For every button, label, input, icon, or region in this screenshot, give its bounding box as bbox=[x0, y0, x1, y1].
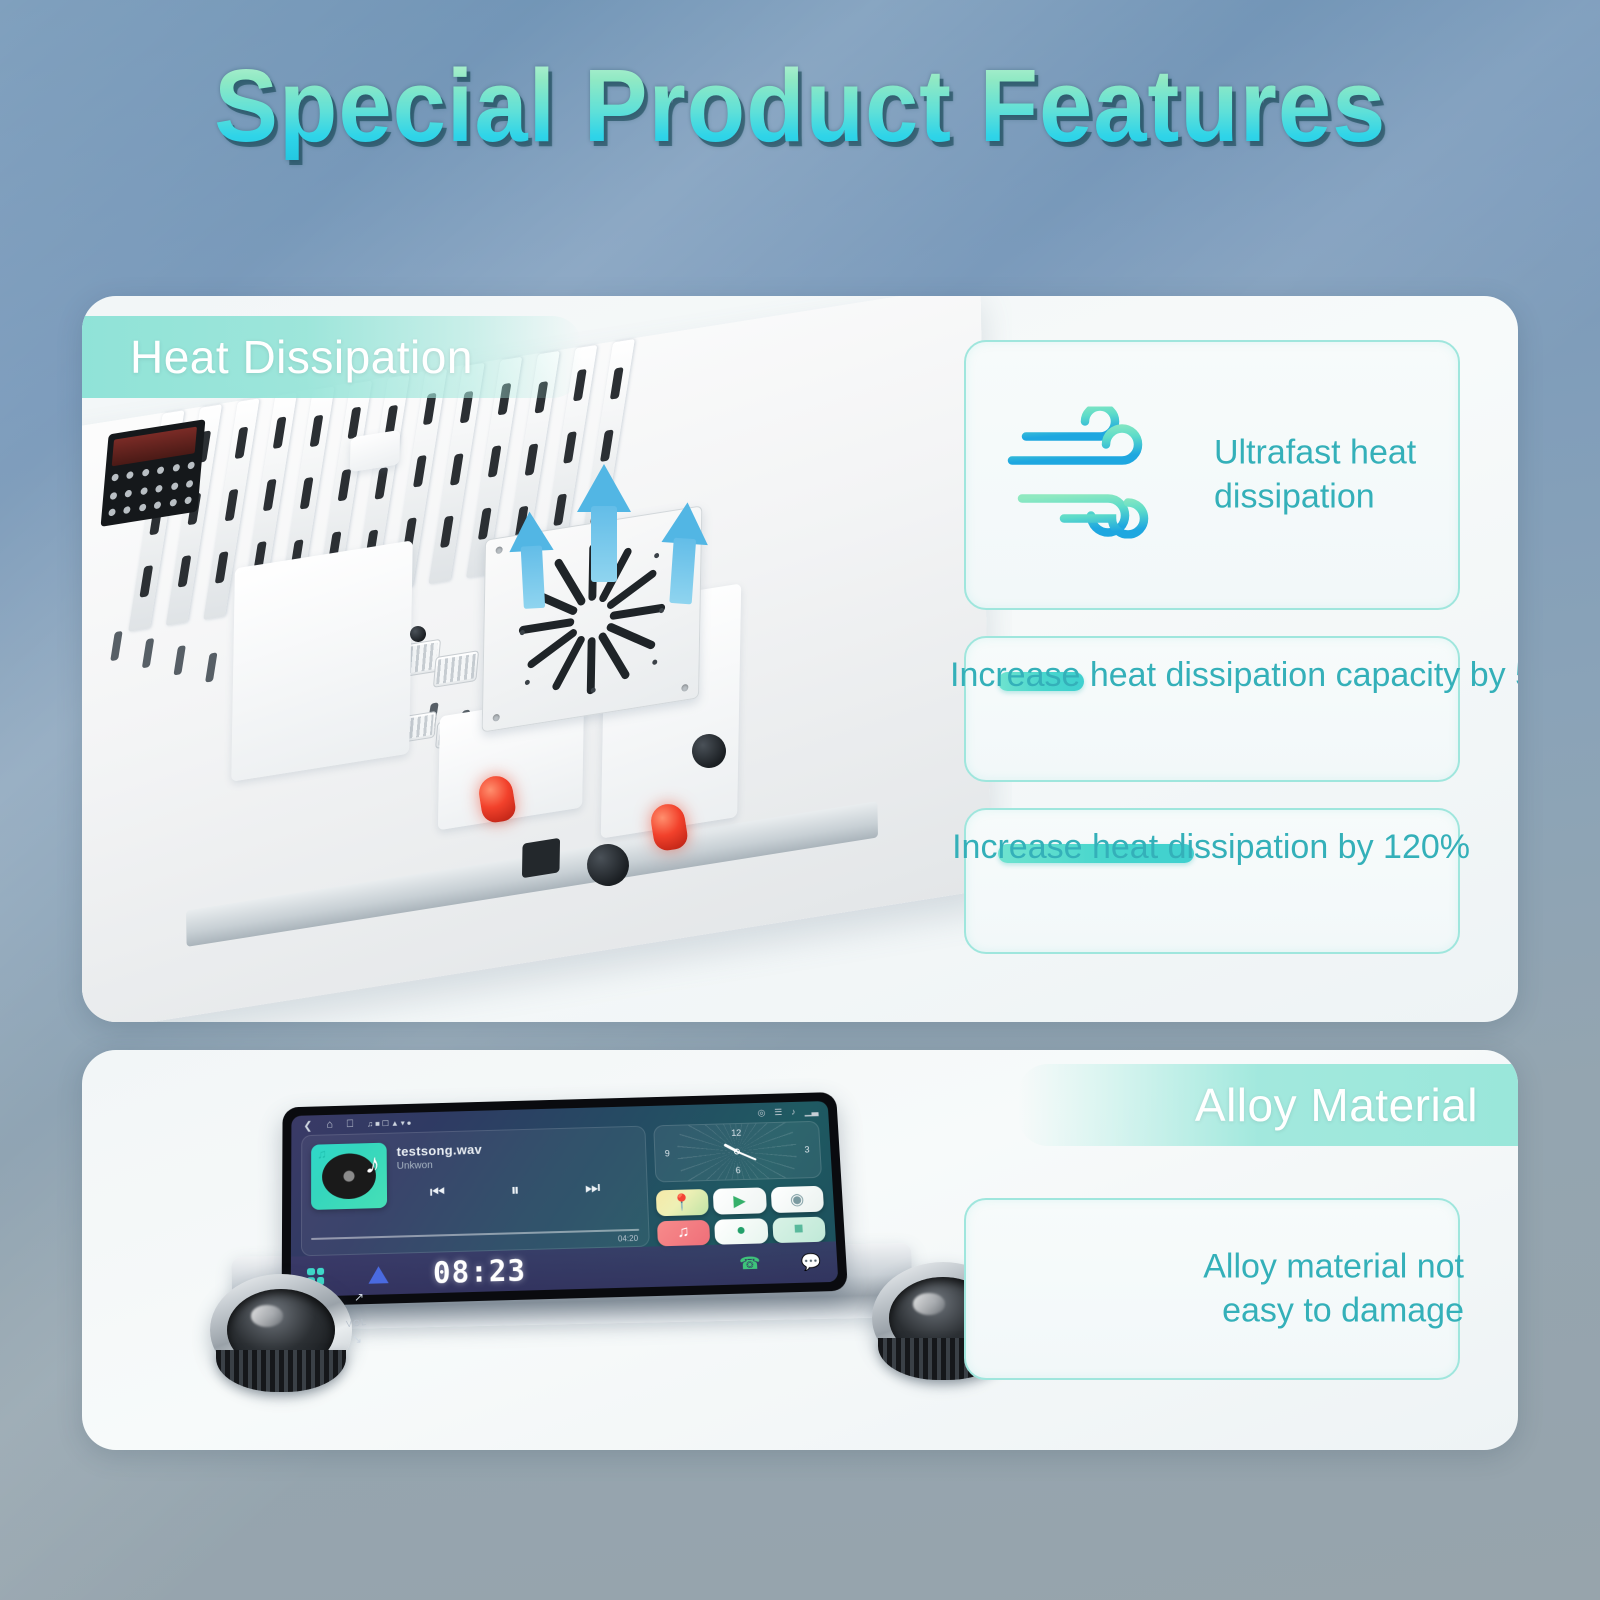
extra-app-icon[interactable]: ■ bbox=[772, 1216, 826, 1243]
network-icon: ☰ bbox=[774, 1107, 783, 1118]
heatsink-photo bbox=[82, 296, 1012, 1022]
volume-knob-left[interactable] bbox=[210, 1274, 352, 1386]
music-player-card[interactable]: ♫ ♪ testsong.wav Unkwon ⏮ ⏸ ⏭ bbox=[301, 1126, 649, 1257]
clock-marker-12: 12 bbox=[731, 1128, 741, 1138]
alloy-material-tag-label: Alloy Material bbox=[1195, 1078, 1478, 1132]
pause-icon[interactable]: ⏸ bbox=[511, 1180, 520, 1200]
clock-marker-6: 6 bbox=[735, 1165, 740, 1175]
clock-marker-9: 9 bbox=[665, 1148, 670, 1158]
play-store-app-icon[interactable]: ▶ bbox=[713, 1187, 767, 1214]
airflow-arrow-left bbox=[507, 511, 556, 610]
feature-dissipation-120[interactable]: Increase heat dissipation by 120% bbox=[964, 808, 1460, 954]
track-info: testsong.wav Unkwon ⏮ ⏸ ⏭ bbox=[397, 1136, 639, 1244]
gps-icon: ◎ bbox=[757, 1107, 765, 1118]
clock-widget[interactable]: 12 3 6 9 bbox=[653, 1121, 822, 1183]
phone-icon[interactable]: ☎ bbox=[739, 1254, 761, 1275]
volume-down-arrow-icon: ↘ bbox=[352, 1332, 362, 1346]
track-duration: 04:20 bbox=[618, 1234, 638, 1244]
alloy-material-tag: Alloy Material bbox=[1018, 1064, 1518, 1146]
navigation-arrow-icon[interactable] bbox=[368, 1265, 388, 1283]
feature-capacity-50-label: Increase heat dissipation capacity by 50… bbox=[950, 654, 1470, 698]
head-unit-display[interactable]: ❮ ⌂ ⎕ ♫■☐▲▾● ◎ ☰ ♪ ▁▃ bbox=[282, 1092, 848, 1306]
feature-alloy-durable-label: Alloy material not easy to damage bbox=[1134, 1245, 1464, 1332]
volume-up-arrow-icon: ↗ bbox=[354, 1290, 364, 1304]
feature-ultrafast-label: Ultrafast heat dissipation bbox=[1214, 431, 1464, 518]
assistant-app-icon[interactable]: ● bbox=[714, 1218, 768, 1245]
clock-marker-3: 3 bbox=[804, 1145, 810, 1155]
message-icon[interactable]: 💬 bbox=[800, 1252, 821, 1273]
feature-dissipation-120-label: Increase heat dissipation by 120% bbox=[950, 826, 1470, 870]
music-app-icon[interactable]: ♫ bbox=[656, 1219, 710, 1246]
status-tray-icons: ♫■☐▲▾● bbox=[367, 1118, 413, 1128]
page-root: Special Product Features bbox=[0, 0, 1600, 1600]
dock-right-group: ☎ 💬 bbox=[739, 1252, 822, 1274]
browser-app-icon[interactable]: ◉ bbox=[770, 1186, 824, 1213]
previous-track-icon[interactable]: ⏮ bbox=[430, 1182, 446, 1202]
status-right-icons: ◎ ☰ ♪ ▁▃ bbox=[757, 1106, 818, 1118]
signal-icon: ▁▃ bbox=[804, 1106, 818, 1117]
heat-dissipation-tag: Heat Dissipation bbox=[82, 316, 582, 398]
power-connector bbox=[101, 419, 206, 527]
feature-ultrafast-heat-dissipation[interactable]: Ultrafast heat dissipation bbox=[964, 340, 1460, 610]
album-art: ♫ ♪ bbox=[311, 1143, 387, 1210]
head-unit-photo: ❮ ⌂ ⎕ ♫■☐▲▾● ◎ ☰ ♪ ▁▃ bbox=[82, 1050, 1012, 1450]
maps-app-icon[interactable]: 📍 bbox=[655, 1189, 709, 1216]
alloy-feature-list: Alloy material not easy to damage bbox=[964, 1198, 1460, 1406]
airflow-arrow-right bbox=[657, 501, 710, 605]
heat-dissipation-tag-label: Heat Dissipation bbox=[130, 330, 473, 384]
dock-clock-time: 08:23 bbox=[433, 1253, 527, 1290]
music-note-small-icon: ♫ bbox=[317, 1147, 327, 1160]
volume-icon: ♪ bbox=[791, 1107, 796, 1117]
heat-feature-list: Ultrafast heat dissipation Increase heat… bbox=[964, 340, 1460, 980]
component-housing-left bbox=[231, 540, 413, 781]
next-track-icon[interactable]: ⏭ bbox=[585, 1178, 601, 1198]
airflow-arrow-center bbox=[577, 464, 631, 582]
screen-body: ♫ ♪ testsong.wav Unkwon ⏮ ⏸ ⏭ bbox=[291, 1120, 836, 1256]
app-grid: 📍 ▶ ◉ ♫ ● ■ bbox=[655, 1184, 826, 1247]
back-chevron-icon[interactable]: ❮ bbox=[303, 1119, 312, 1132]
feature-capacity-50[interactable]: Increase heat dissipation capacity by 50… bbox=[964, 636, 1460, 782]
recents-icon[interactable]: ⎕ bbox=[347, 1118, 354, 1131]
home-icon[interactable]: ⌂ bbox=[326, 1119, 333, 1131]
page-title-wrap: Special Product Features bbox=[0, 52, 1600, 160]
transport-controls: ⏮ ⏸ ⏭ bbox=[397, 1177, 634, 1203]
feature-alloy-durable[interactable]: Alloy material not easy to damage bbox=[964, 1198, 1460, 1380]
dock-left-group: 08:23 bbox=[307, 1247, 740, 1293]
page-title: Special Product Features bbox=[214, 52, 1386, 160]
alloy-material-panel: ❮ ⌂ ⎕ ♫■☐▲▾● ◎ ☰ ♪ ▁▃ bbox=[82, 1050, 1518, 1450]
wind-icon bbox=[1004, 407, 1156, 544]
heat-dissipation-panel: Heat Dissipation bbox=[82, 296, 1518, 1022]
screen-right-column: 12 3 6 9 📍 ▶ ◉ bbox=[653, 1121, 826, 1247]
music-note-large-icon: ♪ bbox=[363, 1150, 383, 1181]
port-square bbox=[522, 838, 560, 878]
